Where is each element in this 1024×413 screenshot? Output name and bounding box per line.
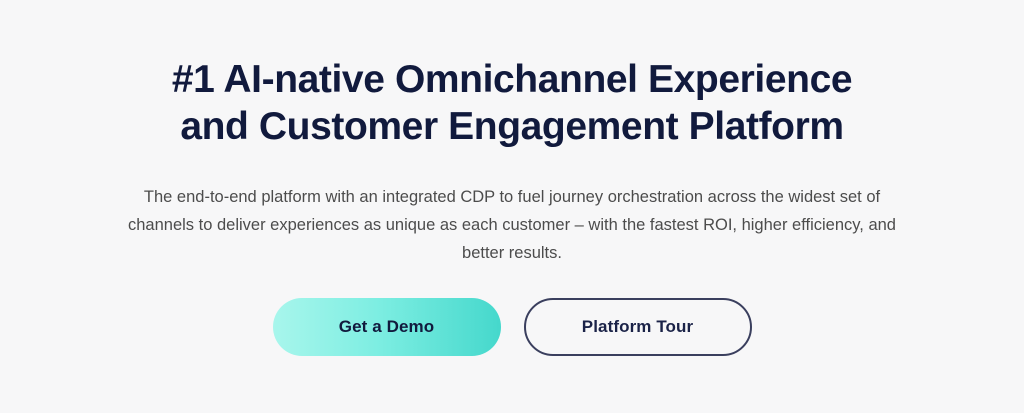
- headline-line-1: #1 AI-native Omnichannel Experience: [172, 58, 852, 101]
- platform-tour-button[interactable]: Platform Tour: [524, 298, 752, 356]
- get-a-demo-label: Get a Demo: [339, 317, 434, 337]
- hero-cta-group: Get a Demo Platform Tour: [273, 298, 752, 356]
- get-a-demo-button[interactable]: Get a Demo: [273, 298, 501, 356]
- page-title: #1 AI-native Omnichannel Experience and …: [132, 56, 892, 150]
- platform-tour-label: Platform Tour: [582, 317, 694, 337]
- hero-section: #1 AI-native Omnichannel Experience and …: [0, 0, 1024, 413]
- headline-line-2: and Customer Engagement Platform: [180, 105, 843, 148]
- hero-subtext: The end-to-end platform with an integrat…: [126, 183, 898, 267]
